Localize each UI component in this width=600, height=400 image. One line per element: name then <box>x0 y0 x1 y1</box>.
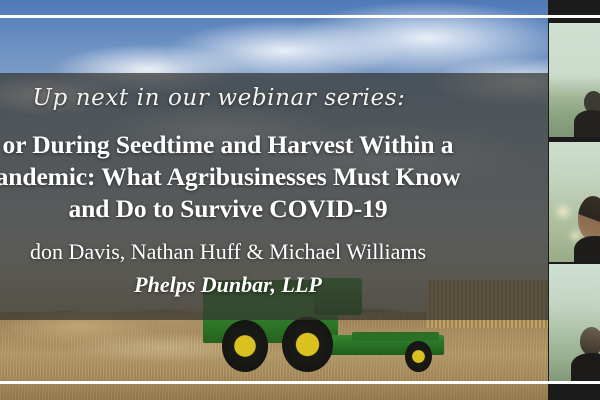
person-torso-icon <box>574 110 600 137</box>
participant-tile-3[interactable] <box>549 264 600 381</box>
harvester-wheel <box>222 320 268 372</box>
person-head-icon <box>580 327 600 355</box>
webinar-screen-share: Up next in our webinar series: or During… <box>0 0 600 400</box>
participant-avatar <box>573 319 600 381</box>
harvester-reel <box>352 332 439 341</box>
participant-tile-2[interactable] <box>549 142 600 262</box>
person-torso-icon <box>574 236 600 262</box>
participant-avatar <box>574 93 600 137</box>
person-torso-icon <box>571 353 600 381</box>
slide-title-line-2: andemic: What Agribusinesses Must Know <box>0 161 548 193</box>
slide-title-line-1: or During Seedtime and Harvest Within a <box>0 129 548 161</box>
slide-title-line-3: and Do to Survive COVID-19 <box>0 193 548 225</box>
shared-slide-stage[interactable]: Up next in our webinar series: or During… <box>0 0 548 400</box>
participant-tile-1[interactable] <box>549 23 600 137</box>
person-head-icon <box>578 196 600 240</box>
participant-filmstrip[interactable] <box>548 0 600 400</box>
slide-kicker: Up next in our webinar series: <box>0 81 548 115</box>
harvester-wheel <box>282 317 333 372</box>
participant-avatar <box>576 188 600 262</box>
slide-presenters: don Davis, Nathan Huff & Michael William… <box>0 237 548 267</box>
slide-title: or During Seedtime and Harvest Within a … <box>0 129 548 225</box>
harvester-wheel <box>405 341 432 372</box>
bottom-divider-rule <box>0 381 600 384</box>
slide-firm-name: Phelps Dunbar, LLP <box>0 270 548 300</box>
top-divider-rule <box>0 15 600 18</box>
slide-text-block: Up next in our webinar series: or During… <box>0 73 548 320</box>
